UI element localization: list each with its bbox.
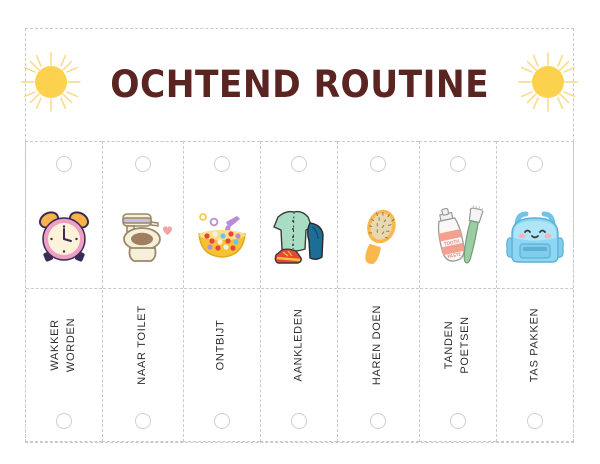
routine-label: ONTBIJT [214,320,230,371]
clothes-icon [261,186,337,288]
punch-hole-top [497,142,573,186]
routine-label: WAKKER WORDEN [48,318,80,372]
routine-label-zone: HAREN DOEN [338,289,418,401]
toilet-icon [103,186,182,288]
routine-label: NAAR TOILET [135,305,151,384]
routine-card[interactable]: HAREN DOEN [337,141,418,442]
routine-label-zone: WAKKER WORDEN [26,289,102,401]
routine-card[interactable]: WAKKER WORDEN [25,141,102,442]
routine-card-grid: WAKKER WORDEN NAAR TOILET [25,141,574,442]
routine-label: TANDEN POETSEN [442,316,474,373]
routine-label: AANKLEDEN [291,309,307,382]
routine-card[interactable]: ONTBIJT [183,141,260,442]
alarm-clock-icon [26,186,102,288]
routine-card[interactable]: AANKLEDEN [260,141,337,442]
routine-label-zone: TAS PAKKEN [497,289,573,401]
punch-hole-top [420,142,496,186]
punch-hole-top [338,142,418,186]
routine-card[interactable]: TOOTH PASTE TANDEN POETSEN [419,141,496,442]
punch-hole-bottom [103,401,182,441]
page-title: OCHTEND ROUTINE [110,63,489,106]
sun-icon [20,51,82,118]
routine-card[interactable]: NAAR TOILET [102,141,182,442]
sun-icon [517,51,579,118]
punch-hole-bottom [338,401,418,441]
punch-hole-top [261,142,337,186]
routine-card[interactable]: TAS PAKKEN [496,141,574,442]
punch-hole-bottom [184,401,260,441]
punch-hole-top [26,142,102,186]
backpack-icon [497,186,573,288]
routine-label: TAS PAKKEN [527,308,543,382]
routine-label-zone: TANDEN POETSEN [420,289,496,401]
header: OCHTEND ROUTINE [26,29,573,140]
punch-hole-top [184,142,260,186]
cereal-bowl-icon [184,186,260,288]
routine-label: HAREN DOEN [370,305,386,385]
punch-hole-top [103,142,182,186]
hairbrush-icon [338,186,418,288]
punch-hole-bottom [261,401,337,441]
punch-hole-bottom [497,401,573,441]
toothbrush-icon: TOOTH PASTE [420,186,496,288]
routine-label-zone: ONTBIJT [184,289,260,401]
routine-label-zone: AANKLEDEN [261,289,337,401]
punch-hole-bottom [420,401,496,441]
routine-label-zone: NAAR TOILET [103,289,182,401]
punch-hole-bottom [26,401,102,441]
